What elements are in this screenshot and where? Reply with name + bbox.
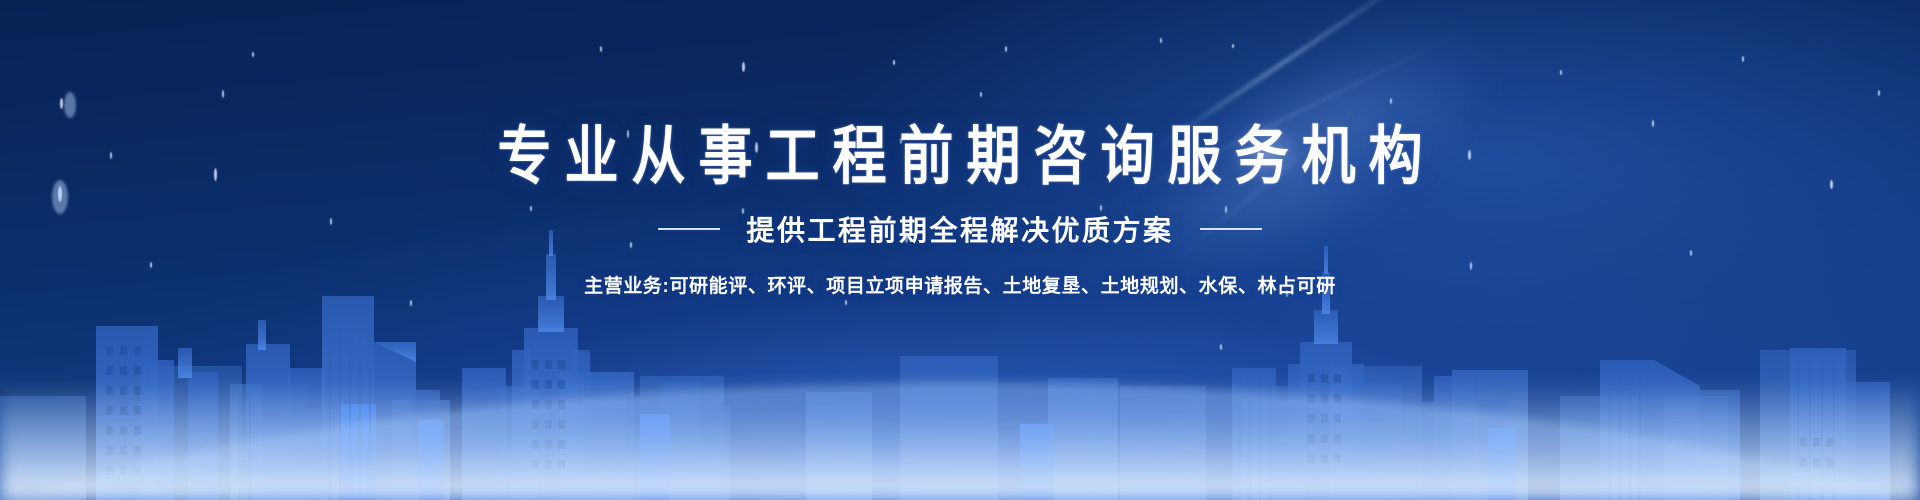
right-rule-icon bbox=[1200, 228, 1262, 230]
banner-headline: 专业从事工程前期咨询服务机构 bbox=[485, 125, 1436, 189]
banner-subtitle-row: 提供工程前期全程解决优质方案 bbox=[658, 209, 1261, 249]
banner-content: 专业从事工程前期咨询服务机构 提供工程前期全程解决优质方案 主营业务:可研能评、… bbox=[0, 0, 1920, 500]
left-rule-icon bbox=[658, 228, 720, 230]
banner-subtitle: 提供工程前期全程解决优质方案 bbox=[746, 209, 1173, 249]
hero-banner: 专业从事工程前期咨询服务机构 提供工程前期全程解决优质方案 主营业务:可研能评、… bbox=[0, 0, 1920, 500]
banner-business-line: 主营业务:可研能评、环评、项目立项申请报告、土地复垦、土地规划、水保、林占可研 bbox=[584, 271, 1336, 298]
